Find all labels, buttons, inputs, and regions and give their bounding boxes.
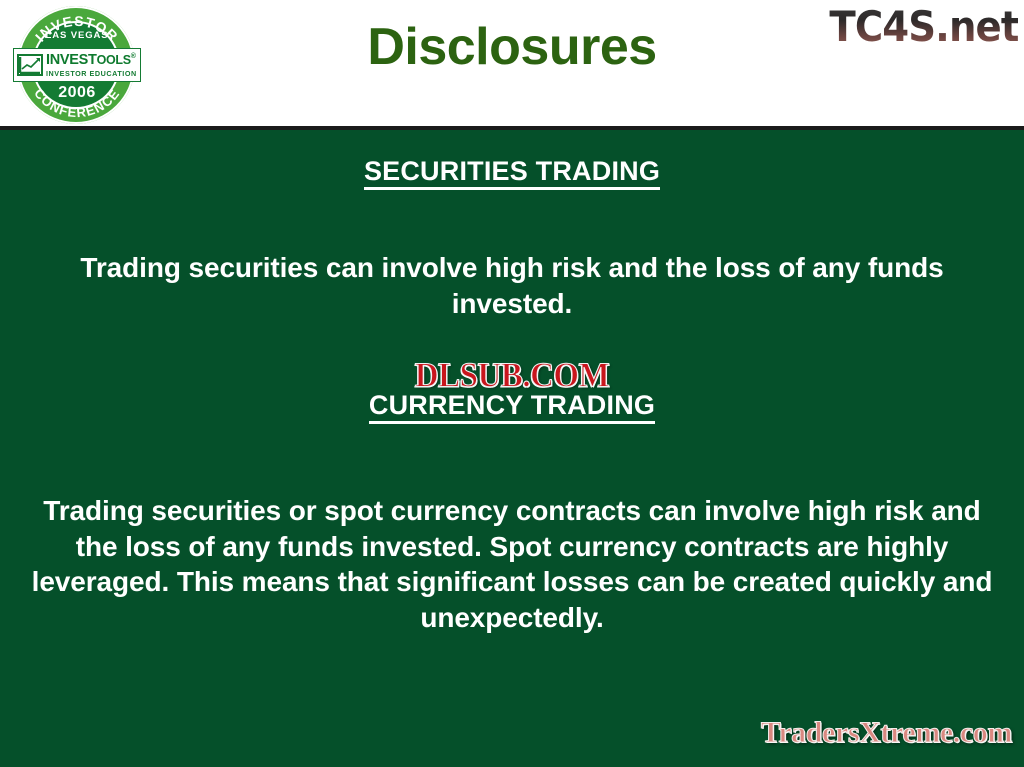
tradersxtreme-watermark: TradersXtreme.com bbox=[761, 716, 1012, 750]
tc4s-brand-mark: TC4S.net bbox=[829, 2, 1018, 51]
securities-trading-paragraph: Trading securities can involve high risk… bbox=[42, 250, 982, 321]
securities-trading-heading-label: SECURITIES TRADING bbox=[364, 156, 660, 190]
securities-trading-heading: SECURITIES TRADING bbox=[0, 156, 1024, 187]
currency-trading-heading: CURRENCY TRADING bbox=[0, 390, 1024, 421]
currency-trading-heading-label: CURRENCY TRADING bbox=[369, 390, 655, 424]
slide-body: SECURITIES TRADING Trading securities ca… bbox=[0, 130, 1024, 767]
slide-header: INVESTOR CONFERENCE LAS VEGAS bbox=[0, 0, 1024, 126]
logo-year-label: 2006 bbox=[11, 84, 143, 102]
slide: INVESTOR CONFERENCE LAS VEGAS bbox=[0, 0, 1024, 767]
currency-trading-paragraph: Trading securities or spot currency cont… bbox=[30, 493, 994, 635]
